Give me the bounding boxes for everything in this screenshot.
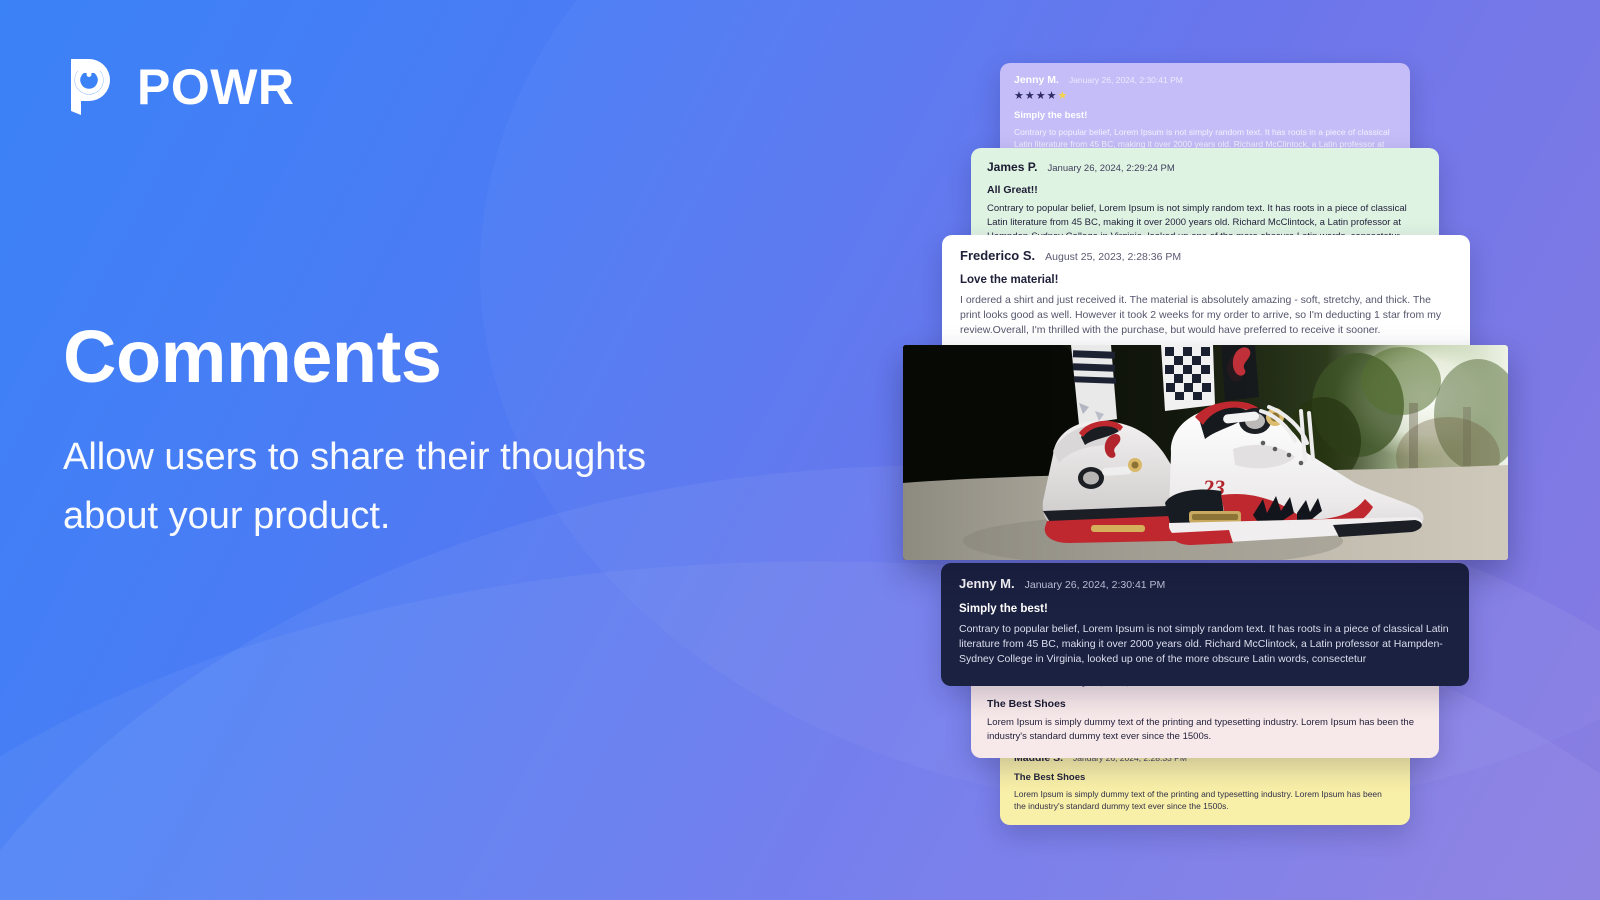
- comment-author: James P.: [987, 160, 1038, 174]
- comment-body: Contrary to popular belief, Lorem Ipsum …: [959, 622, 1451, 668]
- star-rating: ★★★★★: [1014, 91, 1396, 102]
- comment-body: Lorem Ipsum is simply dummy text of the …: [987, 716, 1423, 744]
- comment-title: Simply the best!: [1014, 110, 1396, 121]
- comment-card[interactable]: Jenny M. January 26, 2024, 2:30:41 PM Si…: [941, 563, 1469, 686]
- star-filled-icon: ★: [1036, 90, 1047, 102]
- comment-title: Simply the best!: [959, 603, 1451, 615]
- comment-timestamp: August 25, 2023, 2:28:36 PM: [1045, 251, 1181, 263]
- comment-body: Lorem Ipsum is simply dummy text of the …: [1014, 788, 1396, 813]
- star-filled-icon: ★: [1047, 90, 1058, 102]
- comment-card-stack: Jenny M. January 26, 2024, 2:30:41 PM ★★…: [0, 0, 1600, 900]
- comment-title: The Best Shoes: [987, 698, 1423, 710]
- comment-author: Frederico S.: [960, 248, 1035, 263]
- comment-attachment-photo[interactable]: White and red Air Jordan 5 sneakers worn…: [903, 345, 1508, 560]
- comment-header: Jenny M. January 26, 2024, 2:30:41 PM: [1014, 74, 1396, 86]
- comment-title: The Best Shoes: [1014, 772, 1396, 783]
- comment-author: Jenny M.: [1014, 74, 1059, 86]
- comment-header: Jenny M. January 26, 2024, 2:30:41 PM: [959, 576, 1451, 591]
- comment-title: All Great!!: [987, 184, 1423, 196]
- comment-timestamp: January 26, 2024, 2:30:41 PM: [1069, 75, 1183, 85]
- comment-author: Jenny M.: [959, 576, 1015, 591]
- comment-timestamp: January 26, 2024, 2:29:24 PM: [1048, 163, 1175, 174]
- star-filled-icon: ★: [1025, 90, 1036, 102]
- star-filled-icon: ★: [1014, 90, 1025, 102]
- comment-title: Love the material!: [960, 274, 1452, 286]
- comment-body: I ordered a shirt and just received it. …: [960, 293, 1452, 339]
- comment-timestamp: January 26, 2024, 2:30:41 PM: [1025, 579, 1166, 591]
- star-empty-icon: ★: [1058, 90, 1069, 102]
- comment-header: James P. January 26, 2024, 2:29:24 PM: [987, 160, 1423, 174]
- comment-header: Frederico S. August 25, 2023, 2:28:36 PM: [960, 248, 1452, 263]
